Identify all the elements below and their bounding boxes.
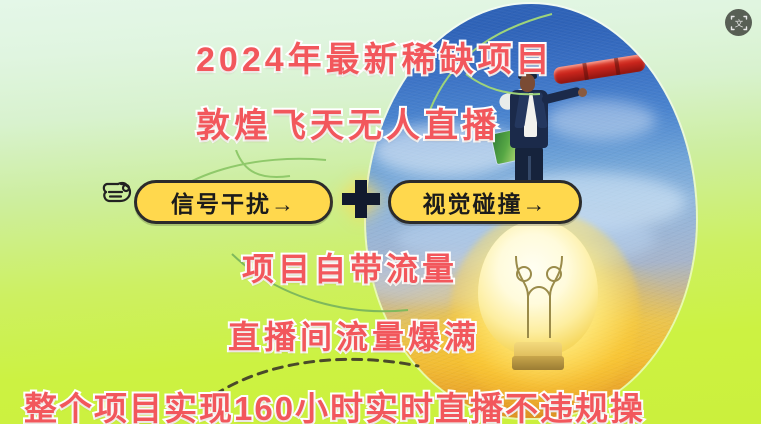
headline-line-4: 直播间流量爆满 [228,312,480,358]
badge-visual-impact[interactable]: 视觉碰撞→ [388,180,582,224]
lightbulb-base [512,356,564,370]
figure-hand [578,88,587,97]
poster-canvas: 2024年最新稀缺项目 敦煌飞天无人直播 项目自带流量 直播间流量爆满 整个项目… [0,0,761,424]
badge-label: 视觉碰撞→ [423,185,548,219]
headline-line-2: 敦煌飞天无人直播 [196,98,500,147]
lightbulb-filament [506,252,572,348]
watermark-glyph: 文 [734,18,743,29]
headline-line-3: 项目自带流量 [242,244,458,290]
badge-label: 信号干扰→ [171,185,296,219]
figure-arm [541,86,582,104]
pointing-hand-icon [100,176,134,208]
watermark-icon: 文 [725,9,752,36]
telescope-band [582,63,589,80]
headline-line-1: 2024年最新稀缺项目 [196,32,554,81]
headline-line-5: 整个项目实现160小时实时直播不违规操 [24,382,645,424]
badge-signal-interference[interactable]: 信号干扰→ [134,180,333,224]
telescope-band [614,58,621,75]
plus-icon [338,176,384,222]
